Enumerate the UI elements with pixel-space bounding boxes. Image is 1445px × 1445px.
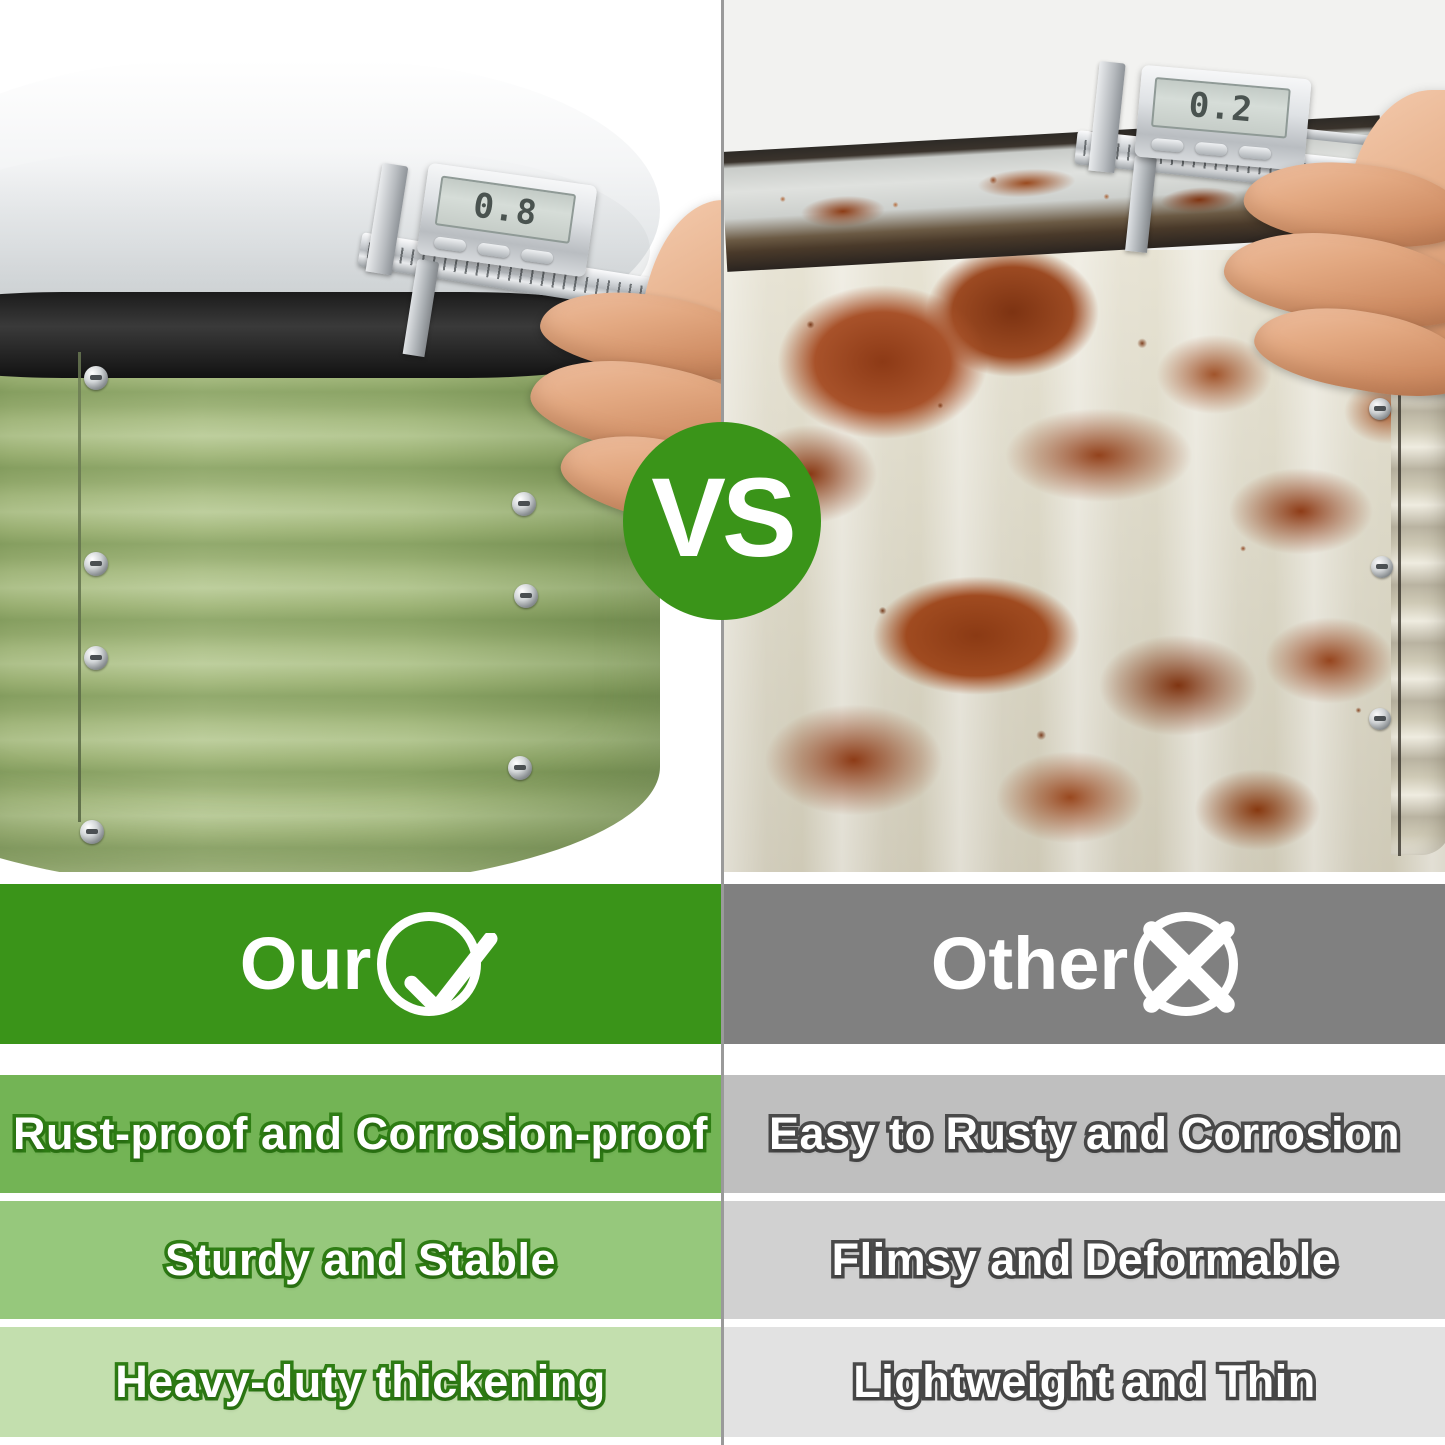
our-product-photo: 0.8	[0, 0, 722, 872]
feature-label-theirs: Easy to Rusty and Corrosion	[769, 1109, 1400, 1159]
screw-icon	[512, 492, 536, 516]
feature-cell-ours: Heavy-duty thickening	[0, 1327, 721, 1437]
caliper-lcd-screen: 0.8	[435, 175, 577, 243]
screw-icon	[84, 646, 108, 670]
feature-cell-theirs: Flimsy and Deformable	[724, 1201, 1445, 1319]
caliper-lcd-screen: 0.2	[1151, 77, 1291, 139]
caliper-button	[1151, 138, 1184, 153]
caliper-buttons	[1151, 138, 1272, 160]
check-mark-icon	[402, 933, 498, 1029]
screw-icon	[84, 366, 108, 390]
bolt-icon	[1369, 398, 1391, 420]
comparison-infographic: 0.8	[0, 0, 1445, 1445]
x-mark-icon	[1137, 915, 1241, 1019]
screw-icon	[80, 820, 104, 844]
feature-cell-ours: Sturdy and Stable	[0, 1201, 721, 1319]
header-label-ours: Our	[240, 927, 372, 1001]
caliper-button	[1239, 146, 1272, 161]
feature-label-ours: Heavy-duty thickening	[115, 1357, 606, 1407]
feature-cell-theirs: Lightweight and Thin	[724, 1327, 1445, 1437]
screw-icon	[84, 552, 108, 576]
screw-icon	[508, 756, 532, 780]
caliper-button	[521, 248, 554, 264]
feature-label-theirs: Flimsy and Deformable	[832, 1235, 1338, 1285]
planter-seam-line	[78, 352, 81, 822]
caliper-button	[477, 242, 510, 258]
screw-icon	[514, 584, 538, 608]
caliper-reading-value: 0.2	[1187, 85, 1255, 130]
caliper-button	[433, 236, 466, 252]
feature-label-theirs: Lightweight and Thin	[853, 1357, 1315, 1407]
vs-badge: VS	[623, 422, 821, 620]
table-vertical-divider	[721, 872, 724, 1445]
check-circle-icon	[377, 912, 481, 1016]
other-product-photo: 0.2	[724, 0, 1445, 872]
x-circle-icon	[1134, 912, 1238, 1016]
caliper-button	[1195, 142, 1228, 157]
caliper-display-housing: 0.2	[1134, 65, 1311, 171]
header-cell-ours: Our	[0, 884, 721, 1044]
feature-cell-theirs: Easy to Rusty and Corrosion	[724, 1075, 1445, 1193]
caliper-reading-value: 0.8	[471, 185, 540, 234]
comparison-table: Our Other	[0, 872, 1445, 1445]
feature-label-ours: Sturdy and Stable	[165, 1235, 556, 1285]
header-label-theirs: Other	[931, 927, 1128, 1001]
photo-comparison-area: 0.8	[0, 0, 1445, 872]
bolt-icon	[1369, 708, 1391, 730]
feature-cell-ours: Rust-proof and Corrosion-proof	[0, 1075, 721, 1193]
header-cell-theirs: Other	[724, 884, 1445, 1044]
feature-label-ours: Rust-proof and Corrosion-proof	[13, 1109, 708, 1159]
vs-label: VS	[651, 462, 792, 574]
bolt-icon	[1371, 556, 1393, 578]
